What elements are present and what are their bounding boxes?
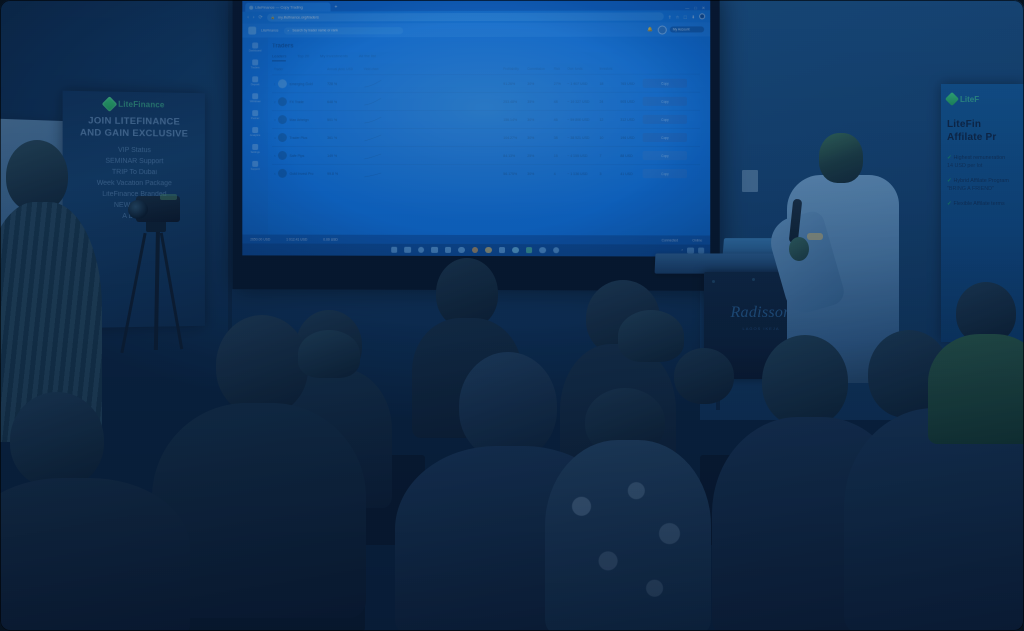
- traders-table-body: 1Emerging Gold 728 % 91.26% 30% 27% ~ 1 …: [272, 74, 700, 182]
- edge-icon[interactable]: [458, 247, 464, 254]
- sparkline-icon: [364, 169, 390, 178]
- person-head: [10, 392, 104, 488]
- avatar: [278, 133, 287, 142]
- annual-yield: 361 %: [325, 129, 361, 147]
- col-investors: Investors: [597, 67, 618, 75]
- search-icon[interactable]: [391, 247, 397, 254]
- commission: 35%: [525, 92, 551, 110]
- rank: 4: [274, 136, 276, 140]
- col-annual-yield: Annual yield, USD: [325, 67, 361, 75]
- sidebar-item-label: Settings: [251, 151, 260, 154]
- tab-top20[interactable]: Top 20: [297, 53, 309, 61]
- rank: 3: [274, 118, 276, 122]
- status-equity: 1 012.41 USD: [286, 237, 307, 241]
- file-explorer-icon[interactable]: [431, 247, 437, 254]
- avatar: [278, 79, 287, 88]
- calculator-icon[interactable]: [445, 247, 451, 254]
- annual-yield: 99.8 %: [325, 164, 361, 181]
- camera-lens: [128, 200, 148, 219]
- profitability: 104.27%: [501, 128, 525, 146]
- rank: 6: [274, 171, 276, 175]
- reload-icon[interactable]: ⟳: [258, 15, 262, 21]
- status-balance: 2650.00 USD: [250, 237, 270, 241]
- sidebar-item-label: Dashboard: [249, 49, 262, 52]
- account-name: My Account: [670, 26, 704, 32]
- person-body: [928, 334, 1024, 444]
- commission: 25%: [525, 147, 551, 165]
- tab-leaders[interactable]: Leaders: [272, 53, 286, 61]
- litefinance-logo: LiteFinance: [69, 98, 199, 111]
- commission: 30%: [525, 128, 551, 146]
- col-equity: [618, 67, 640, 75]
- table-row[interactable]: 5Safe Pips 149 % 84.13% 25% 15 ~ 4 155 U…: [272, 146, 700, 164]
- risk: 27%: [552, 74, 566, 92]
- avatar: [278, 115, 287, 124]
- avatar: [278, 169, 287, 178]
- skype-icon[interactable]: [512, 247, 519, 254]
- share-icon[interactable]: ⇪: [668, 14, 672, 19]
- check-icon: ✓: [947, 155, 952, 161]
- windows-taskbar: ^: [242, 243, 710, 256]
- copy-button[interactable]: Copy: [643, 151, 687, 160]
- podium-screw: [752, 278, 755, 281]
- sidebar-item-label: Analytics: [250, 134, 260, 137]
- profitability: 156.14%: [501, 110, 525, 128]
- sparkline-icon: [364, 133, 390, 142]
- table-row[interactable]: 6Gold Invest Pro 99.8 % 56.175% 30% 4 ~ …: [272, 164, 700, 182]
- search-placeholder: Search by trader name or rank: [292, 28, 338, 32]
- col-commission: Commission: [525, 67, 551, 75]
- person-body: [545, 440, 711, 631]
- camera-top-highlight: [160, 194, 177, 200]
- sidebar-item-label: Traders: [251, 66, 260, 69]
- opera-icon[interactable]: [485, 247, 492, 254]
- sidebar-item-label: Withdraw: [250, 100, 261, 103]
- status-online: Online: [692, 238, 702, 242]
- investors: 12: [597, 110, 618, 128]
- sparkline-icon: [364, 151, 390, 160]
- equity: 905 USD: [618, 92, 640, 110]
- browser-tab-title: LiteFinance — Copy Trading: [255, 5, 303, 9]
- risk: 46: [552, 110, 566, 128]
- status-profit: 0.00 USD: [323, 237, 338, 241]
- traders-icon: [252, 59, 258, 65]
- risk: 4: [552, 165, 566, 183]
- projection-screen-surface: LiteFinance — Copy Trading + — □ ✕ ‹ › ⟳: [242, 0, 710, 257]
- sidebar-item-traders[interactable]: Traders: [247, 59, 263, 69]
- new-tab-button[interactable]: +: [333, 4, 340, 11]
- analytics-icon: [252, 127, 258, 133]
- speaker-hand: [789, 237, 809, 261]
- table-row[interactable]: 4Trader Plus 361 % 104.27% 30% 38 ~ 38 5…: [272, 128, 700, 146]
- check-icon: ✓: [947, 178, 952, 184]
- col-own-funds: Own funds: [565, 67, 597, 75]
- copy-button[interactable]: Copy: [643, 79, 687, 88]
- col-profitability: Profitability: [501, 67, 525, 75]
- sidebar-item-settings[interactable]: Settings: [247, 144, 263, 154]
- person-head: [762, 335, 848, 427]
- bullet-item: ✓Flexible Affilate terms: [947, 201, 1018, 209]
- forward-arrow-icon[interactable]: ›: [253, 15, 255, 21]
- search-input[interactable]: ⌕ Search by trader name or rank: [283, 27, 402, 34]
- profitability: 253.48%: [501, 92, 525, 110]
- projection-screen: LiteFinance — Copy Trading + — □ ✕ ‹ › ⟳: [232, 0, 719, 291]
- own-funds: ~ 59 890 USD: [565, 110, 597, 128]
- partner-icon: [252, 110, 258, 116]
- own-funds: ~ 38 521 USD: [565, 128, 597, 146]
- trader-name: Gold Invest Pro: [290, 171, 314, 175]
- avatar: [278, 97, 287, 106]
- projected-browser-window: LiteFinance — Copy Trading + — □ ✕ ‹ › ⟳: [242, 0, 710, 257]
- col-risk: Risk: [552, 67, 566, 75]
- app-logo-label: LiteFinance: [261, 29, 278, 33]
- equity: 765 USD: [618, 74, 640, 92]
- audience-person: [292, 330, 364, 426]
- banner-right-headline-2: Affilate Pr: [947, 131, 1018, 144]
- sidebar-item-label: Deposit: [251, 83, 260, 86]
- sidebar-item-deposit[interactable]: Deposit: [247, 76, 263, 86]
- dashboard-icon: [252, 43, 258, 49]
- bell-icon[interactable]: 🔔: [647, 27, 653, 33]
- wristwatch: [807, 233, 823, 240]
- tab-my-investments[interactable]: My Investments: [320, 53, 348, 61]
- sidebar-item-withdraw[interactable]: Withdraw: [247, 93, 263, 103]
- equity: 312 USD: [618, 110, 640, 128]
- favicon-icon: [249, 5, 253, 9]
- browser-actions: ⇪ ☆ ⬚ ⬇: [668, 13, 705, 19]
- podium-screw: [712, 280, 715, 283]
- sidebar-item-support[interactable]: Support: [247, 161, 263, 171]
- phone-link-icon[interactable]: [418, 247, 424, 254]
- tray-expand-icon[interactable]: ^: [681, 249, 683, 253]
- sidebar-item-label: Support: [251, 168, 260, 171]
- investors: 10: [597, 128, 618, 146]
- banner-right-logo-text: LiteF: [960, 95, 979, 104]
- table-row[interactable]: 2FX Trade 648 % 253.48% 35% 48 ~ 10 327 …: [272, 92, 700, 110]
- sparkline-icon: [364, 115, 390, 124]
- speaker-head: [819, 133, 863, 183]
- investors: 7: [597, 147, 618, 165]
- copy-button[interactable]: Copy: [643, 169, 687, 178]
- banner-right-bullets: ✓Highest remuneration 14 USD per lot ✓Hy…: [947, 155, 1018, 209]
- chrome-icon[interactable]: [472, 247, 478, 254]
- litefinance-logo-icon: [248, 27, 256, 35]
- profitability: 84.13%: [501, 147, 525, 165]
- audience-person: [940, 282, 1024, 432]
- sidebar-item-label: Partner: [251, 117, 259, 120]
- bullet-item: ✓Highest remuneration 14 USD per lot: [947, 155, 1018, 170]
- sidebar-item-analytics[interactable]: Analytics: [247, 127, 263, 137]
- investors: 24: [597, 92, 618, 110]
- table-row[interactable]: 3Max Arbeign 501 % 156.14% 30% 46 ~ 59 8…: [272, 110, 700, 128]
- litefinance-mark-icon: [945, 92, 959, 106]
- account-menu[interactable]: My Account: [658, 25, 704, 34]
- sidebar-item-partner[interactable]: Partner: [247, 110, 263, 120]
- back-arrow-icon[interactable]: ‹: [247, 15, 249, 21]
- person-head: [459, 352, 557, 460]
- own-funds: ~ 10 327 USD: [565, 92, 597, 110]
- equity: 41 USD: [618, 165, 640, 183]
- traders-table: Trader Annual yield, USD Yield chart Pro…: [272, 67, 700, 183]
- mail-icon[interactable]: [526, 247, 533, 254]
- investors: 18: [597, 74, 618, 92]
- person-body: [0, 478, 190, 631]
- annual-yield: 149 %: [325, 146, 361, 164]
- trader-name: FX Trade: [290, 100, 304, 104]
- audience-person: [0, 392, 186, 631]
- page-title: Traders: [272, 42, 700, 49]
- annual-yield: 648 %: [325, 93, 361, 111]
- trader-name: Emerging Gold: [290, 82, 313, 86]
- browser-tab[interactable]: LiteFinance — Copy Trading: [245, 2, 330, 11]
- trader-name: Safe Pips: [290, 153, 305, 157]
- avatar: [278, 151, 287, 160]
- banner-left-logo-text: LiteFinance: [118, 100, 164, 110]
- gear-icon: [252, 144, 258, 150]
- equity: 88 USD: [618, 147, 640, 165]
- annual-yield: 501 %: [325, 111, 361, 129]
- rank: 1: [274, 82, 276, 86]
- bullet-main: Highest remuneration: [954, 155, 1006, 161]
- browser-profile-avatar[interactable]: [699, 13, 705, 19]
- bullet-main: Hybrid Affilate Program: [954, 178, 1009, 184]
- litefinance-logo: LiteF: [947, 94, 1018, 104]
- trader-name: Trader Plus: [290, 136, 308, 140]
- commission: 30%: [525, 110, 551, 128]
- extensions-icon[interactable]: ⬚: [683, 14, 687, 19]
- banner-right-headline-1: LiteFin: [947, 118, 1018, 131]
- check-icon: ✓: [947, 201, 952, 207]
- table-row[interactable]: 1Emerging Gold 728 % 91.26% 30% 27% ~ 1 …: [272, 74, 700, 93]
- address-bar-url: my.litefinance.org/traders: [278, 15, 319, 19]
- bullet-sub: "BRING A FRIEND": [947, 186, 1018, 194]
- annual-yield: 728 %: [325, 75, 361, 93]
- lock-icon: 🔒: [271, 16, 275, 20]
- main-content: Traders Leaders Top 20 My Investments Al…: [268, 36, 710, 256]
- sidebar: Dashboard Traders Deposit Withdraw: [242, 38, 268, 256]
- sparkline-icon: [364, 79, 390, 88]
- status-connected: Connected: [662, 238, 679, 242]
- risk: 48: [552, 92, 566, 110]
- col-action: [641, 67, 700, 75]
- app-body: Dashboard Traders Deposit Withdraw: [242, 36, 710, 256]
- deposit-icon: [252, 76, 258, 82]
- risk: 38: [552, 128, 566, 146]
- downloads-icon[interactable]: ⬇: [692, 14, 696, 19]
- audience-person: [668, 348, 740, 444]
- person-head: [674, 348, 734, 404]
- litefinance-mark-icon: [102, 96, 118, 112]
- bullet-main: Flexible Affilate terms: [954, 201, 1005, 207]
- tab-all-the-list[interactable]: All the list: [359, 53, 376, 61]
- address-bar[interactable]: 🔒 my.litefinance.org/traders: [267, 12, 664, 21]
- settings-icon[interactable]: [553, 247, 560, 254]
- telegram-icon[interactable]: [539, 247, 546, 254]
- sparkline-icon: [364, 97, 390, 106]
- copy-button[interactable]: Copy: [643, 115, 687, 124]
- star-icon[interactable]: ☆: [676, 14, 680, 19]
- sidebar-item-dashboard[interactable]: Dashboard: [247, 42, 263, 52]
- light-switch-plate: [742, 170, 758, 192]
- commission: 30%: [525, 165, 551, 183]
- copy-button[interactable]: Copy: [643, 133, 687, 142]
- own-funds: ~ 1 407 USD: [565, 74, 597, 92]
- profitability: 91.26%: [501, 74, 525, 92]
- task-view-icon[interactable]: [404, 247, 410, 254]
- traders-tabs: Leaders Top 20 My Investments All the li…: [272, 53, 700, 62]
- own-funds: ~ 1 136 USD: [565, 165, 597, 183]
- own-funds: ~ 4 155 USD: [565, 147, 597, 165]
- risk: 15: [552, 147, 566, 165]
- word-icon[interactable]: [499, 247, 506, 254]
- support-icon: [252, 161, 258, 167]
- investors: 3: [597, 165, 618, 183]
- col-trader: Trader: [272, 67, 325, 75]
- commission: 30%: [525, 74, 551, 92]
- trader-name: Max Arbeign: [290, 118, 309, 122]
- rank: 5: [274, 153, 276, 157]
- profitability: 56.175%: [501, 165, 525, 183]
- equity: 196 USD: [618, 128, 640, 146]
- rank: 2: [274, 100, 276, 104]
- bullet-sub: 14 USD per lot: [947, 163, 1018, 171]
- avatar: [658, 25, 667, 34]
- withdraw-icon: [252, 93, 258, 99]
- app-header: LiteFinance ⌕ Search by trader name or r…: [242, 22, 710, 37]
- banner-left-headline-2: AND GAIN EXCLUSIVE: [69, 127, 199, 140]
- person-head cap: [298, 330, 360, 378]
- bullet-item: ✓Hybrid Affilate Program "BRING A FRIEND…: [947, 178, 1018, 193]
- seminar-photo-scene: LiteFinance — Copy Trading + — □ ✕ ‹ › ⟳: [0, 0, 1024, 631]
- search-icon: ⌕: [287, 28, 289, 32]
- copy-button[interactable]: Copy: [643, 97, 687, 106]
